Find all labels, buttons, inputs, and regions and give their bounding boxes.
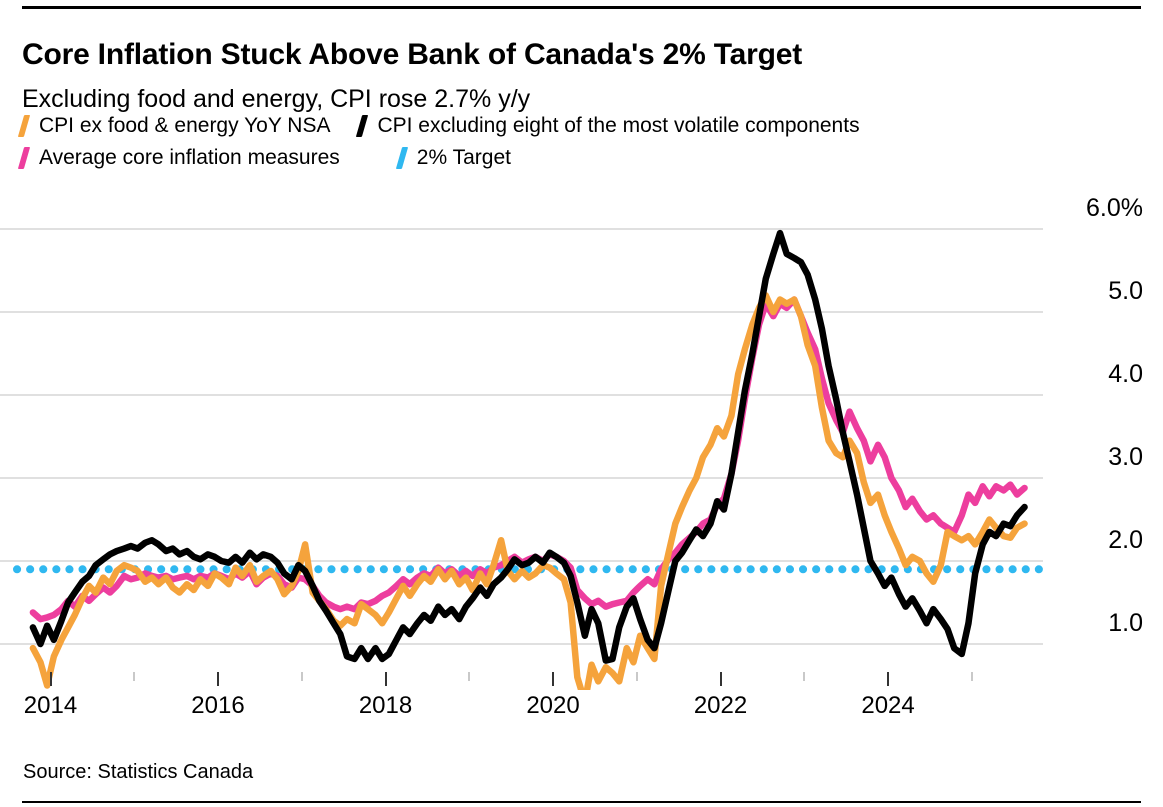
x-tick-major-2016 <box>217 672 219 686</box>
x-tick-minor-2019 <box>468 672 470 681</box>
bottom-rule <box>22 801 1141 803</box>
legend-label-cpi-ex-eight: CPI excluding eight of the most volatile… <box>377 115 859 137</box>
x-axis-label-2022: 2022 <box>694 694 747 718</box>
x-tick-minor-2023 <box>803 672 805 681</box>
x-axis-label-2014: 2014 <box>24 694 77 718</box>
legend-item-avg-core[interactable]: Average core inflation measures <box>18 147 340 169</box>
legend-row-2: Average core inflation measures 2% Targe… <box>18 142 1148 174</box>
source-note: Source: Statistics Canada <box>23 760 253 784</box>
chart-title: Core Inflation Stuck Above Bank of Canad… <box>22 36 1142 74</box>
legend-swatch-orange-icon <box>18 115 30 137</box>
x-axis-label-2020: 2020 <box>526 694 579 718</box>
legend-swatch-black-icon <box>356 115 368 137</box>
legend-item-cpi-ex-food-energy[interactable]: CPI ex food & energy YoY NSA <box>18 115 330 137</box>
x-tick-major-2018 <box>385 672 387 686</box>
x-axis-label-2018: 2018 <box>359 694 412 718</box>
chart-legend: CPI ex food & energy YoY NSA CPI excludi… <box>18 110 1148 174</box>
x-axis-label-2016: 2016 <box>191 694 244 718</box>
x-axis-label-2024: 2024 <box>861 694 914 718</box>
x-tick-minor-2017 <box>301 672 303 681</box>
x-tick-major-2020 <box>552 672 554 686</box>
x-tick-minor-2025 <box>971 672 973 681</box>
x-tick-minor-2015 <box>133 672 135 681</box>
series-line-cpi-ex-food-energy-yoy-nsa <box>33 295 1025 690</box>
legend-row-1: CPI ex food & energy YoY NSA CPI excludi… <box>18 110 1148 142</box>
legend-swatch-pink-icon <box>18 147 30 169</box>
legend-label-avg-core: Average core inflation measures <box>39 147 340 169</box>
x-tick-major-2024 <box>887 672 889 686</box>
chart-plot-area <box>0 190 1163 690</box>
x-tick-minor-2021 <box>636 672 638 681</box>
legend-item-cpi-ex-eight[interactable]: CPI excluding eight of the most volatile… <box>356 115 859 137</box>
legend-swatch-blue-icon <box>396 147 408 169</box>
legend-label-cpi-ex-food-energy: CPI ex food & energy YoY NSA <box>39 115 330 137</box>
x-tick-major-2022 <box>720 672 722 686</box>
chart-svg <box>0 190 1163 690</box>
chart-x-axis: 201420162018202020222024 <box>0 672 1163 732</box>
top-rule <box>22 6 1141 9</box>
x-tick-major-2014 <box>50 672 52 686</box>
legend-item-target[interactable]: 2% Target <box>396 147 511 169</box>
legend-label-target: 2% Target <box>417 147 511 169</box>
